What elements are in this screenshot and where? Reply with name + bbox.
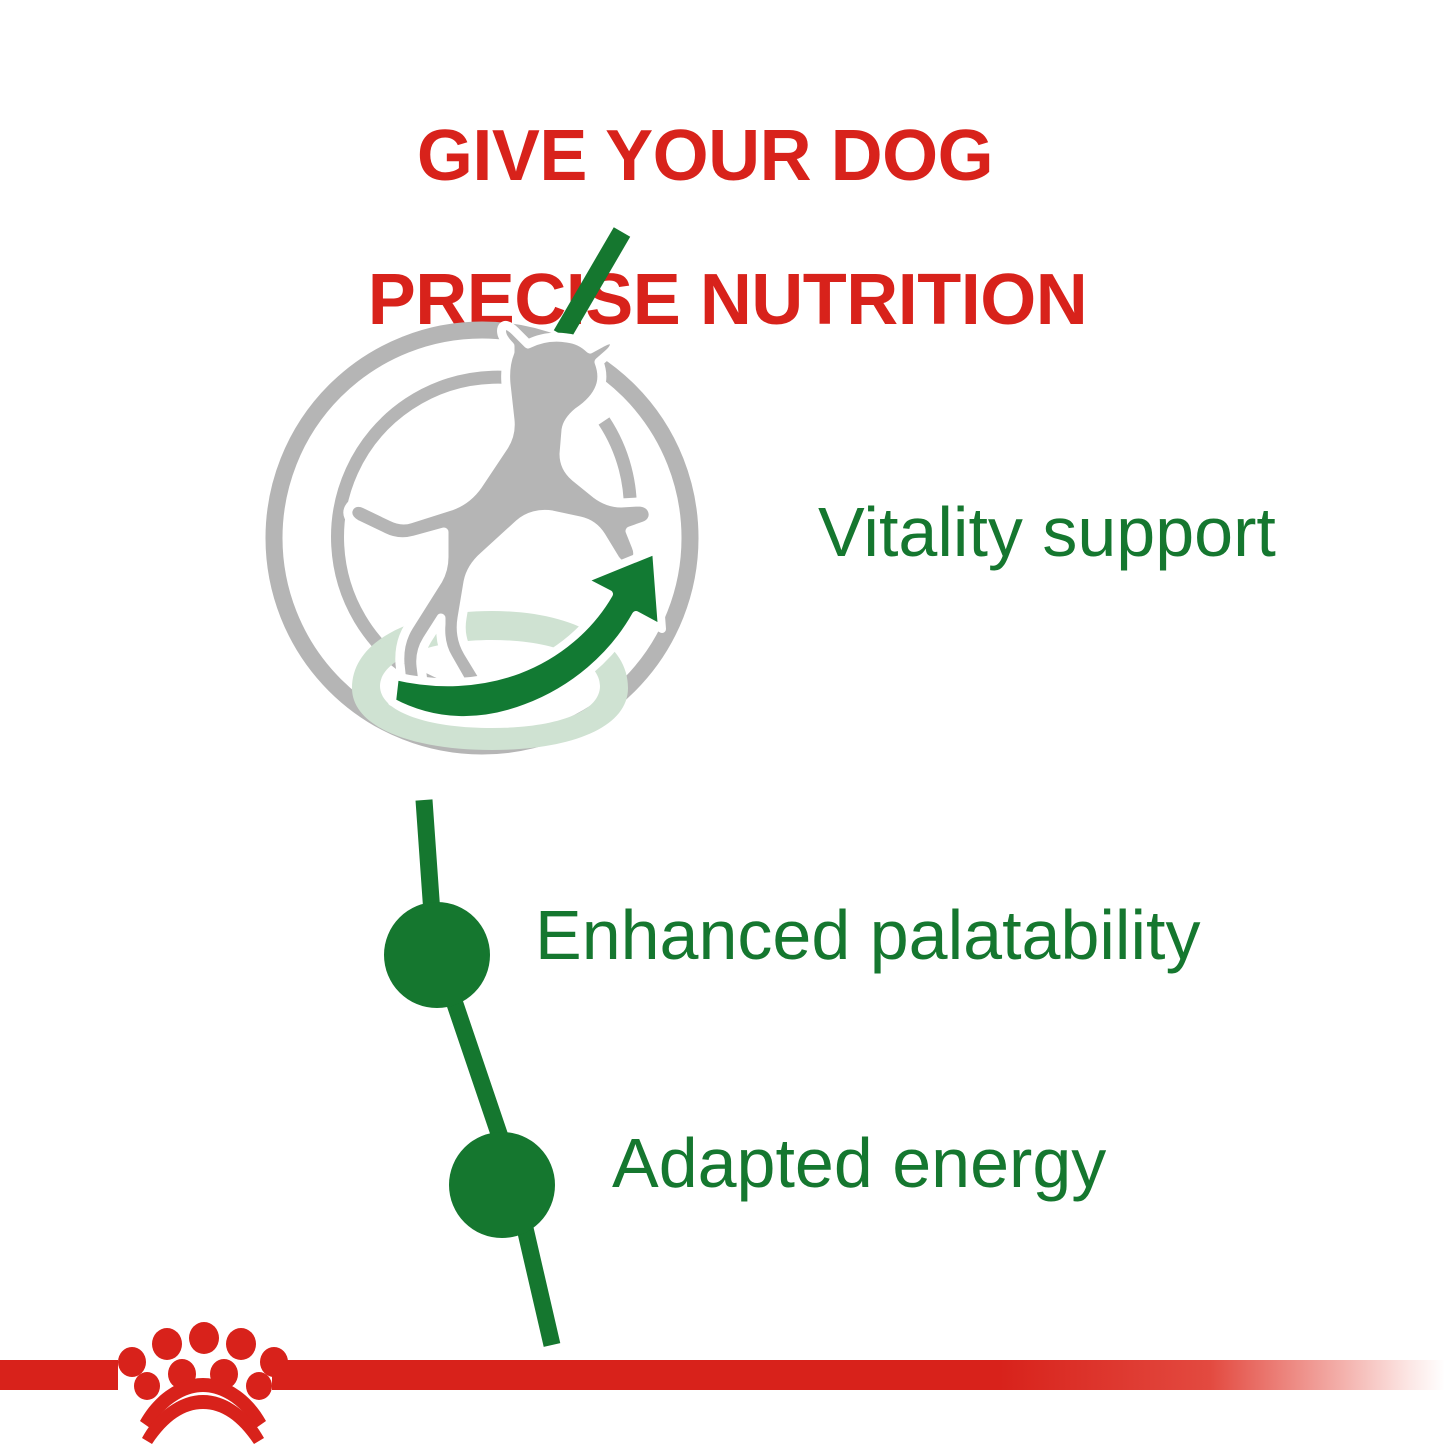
connector-node-palatability xyxy=(384,902,490,1008)
benefits-panel: GIVE YOUR DOG PRECISE NUTRITION xyxy=(0,0,1445,1445)
crown-dot-top-5 xyxy=(260,1347,288,1377)
headline-line-1: GIVE YOUR DOG xyxy=(10,120,1445,192)
connector-main-line xyxy=(424,800,552,1345)
benefit-label-palatability: Enhanced palatability xyxy=(535,900,1200,970)
crown-dot-top-2 xyxy=(152,1328,182,1360)
crown-dot-top-1 xyxy=(118,1347,146,1377)
page-title: GIVE YOUR DOG PRECISE NUTRITION xyxy=(0,48,1445,408)
royal-canin-crown-logo xyxy=(112,1316,292,1444)
crown-dot-top-4 xyxy=(226,1328,256,1360)
crown-dot-bottom-1 xyxy=(134,1372,160,1400)
headline-line-2: PRECISE NUTRITION xyxy=(10,264,1445,336)
brand-footer xyxy=(0,1348,1445,1445)
vitality-medallion xyxy=(252,288,712,788)
brand-bar-left-segment xyxy=(0,1360,118,1390)
connector-node-energy xyxy=(449,1132,555,1238)
crown-dot-top-3 xyxy=(189,1322,219,1354)
crown-dot-bottom-4 xyxy=(246,1372,272,1400)
benefit-label-energy: Adapted energy xyxy=(612,1128,1106,1198)
benefit-label-vitality: Vitality support xyxy=(818,497,1276,567)
brand-bar-right-segment xyxy=(272,1360,1445,1390)
